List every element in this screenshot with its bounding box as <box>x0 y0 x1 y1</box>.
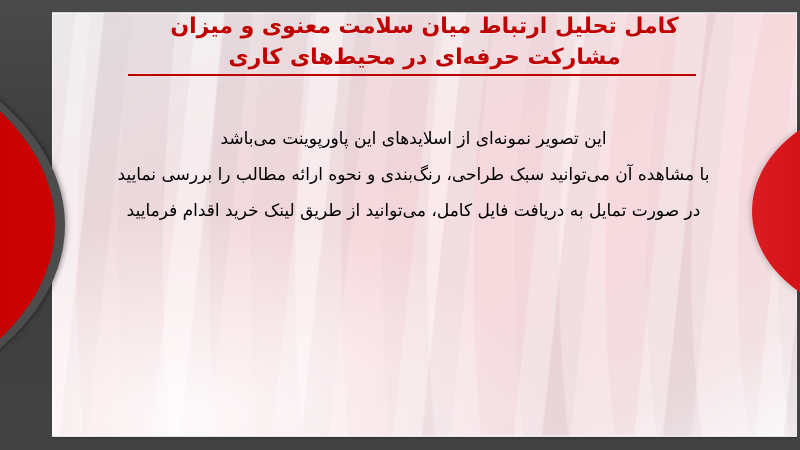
slide-title-line-1: کامل تحلیل ارتباط میان سلامت معنوی و میز… <box>52 11 797 42</box>
presentation-slide: کامل تحلیل ارتباط میان سلامت معنوی و میز… <box>0 0 800 450</box>
slide-body-line-2: با مشاهده آن می‌توانید سبک طراحی، رنگ‌بن… <box>52 157 775 193</box>
slide-title-line-2: مشارکت حرفه‌ای در محیط‌های کاری <box>52 42 797 73</box>
panel-bottom-highlight <box>52 436 797 437</box>
slide-text-content: کامل تحلیل ارتباط میان سلامت معنوی و میز… <box>52 13 797 436</box>
slide-title: کامل تحلیل ارتباط میان سلامت معنوی و میز… <box>52 11 797 73</box>
slide-body: این تصویر نمونه‌ای از اسلایدهای این پاور… <box>52 121 775 229</box>
slide-body-line-3: در صورت تمایل به دریافت فایل کامل، می‌تو… <box>52 193 775 229</box>
title-underline <box>128 74 696 76</box>
slide-body-line-1: این تصویر نمونه‌ای از اسلایدهای این پاور… <box>52 121 775 157</box>
